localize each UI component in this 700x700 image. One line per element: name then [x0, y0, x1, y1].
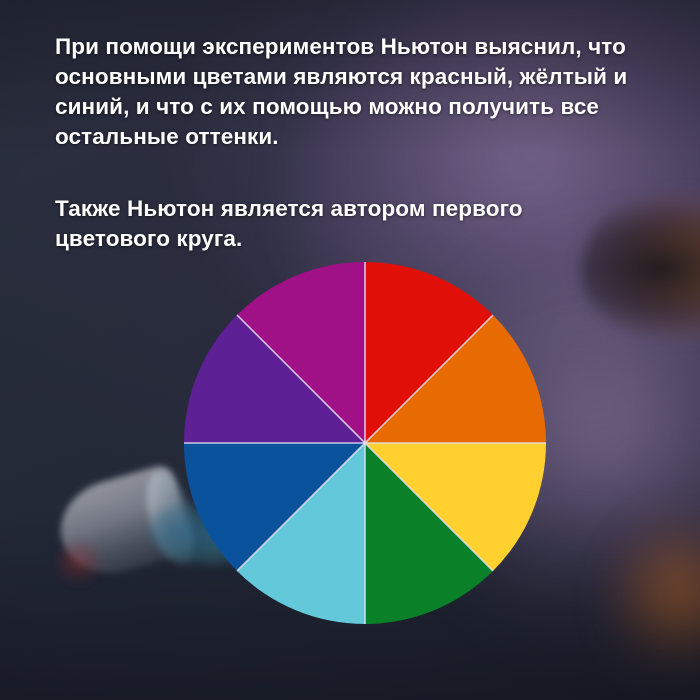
- slide-canvas: При помощи экспериментов Ньютон выяснил,…: [0, 0, 700, 700]
- slide-text: При помощи экспериментов Ньютон выяснил,…: [55, 32, 655, 254]
- paragraph-spacer: [55, 152, 655, 194]
- paragraph-2: Также Ньютон является автором первого цв…: [55, 194, 655, 254]
- paragraph-2-line-2: цветового круга.: [55, 226, 242, 251]
- color-wheel: [184, 262, 546, 624]
- paragraph-1: При помощи экспериментов Ньютон выяснил,…: [55, 32, 655, 152]
- color-wheel-dividers: [184, 262, 546, 624]
- paragraph-1-line-3: синий, и что с их помощью можно получить…: [55, 94, 599, 119]
- paragraph-1-line-2: основными цветами являются красный, жёлт…: [55, 64, 627, 89]
- paragraph-1-line-4: остальные оттенки.: [55, 124, 279, 149]
- color-wheel-svg: [184, 262, 546, 624]
- paragraph-1-line-1: При помощи экспериментов Ньютон выяснил,…: [55, 34, 626, 59]
- paragraph-2-line-1: Также Ньютон является автором первого: [55, 196, 523, 221]
